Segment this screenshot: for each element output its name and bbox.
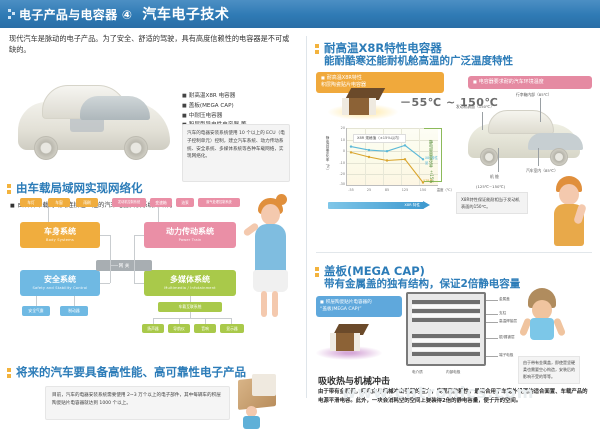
left-column: 现代汽车是脉动的电子产品。为了安全、舒适的驾驶，具有高度信赖性的电容器是不可或缺… xyxy=(0,28,305,406)
network-box-multimedia: 多媒体系统 Multimedia / Infotainment xyxy=(144,270,236,296)
chart-xtick: -55 xyxy=(348,188,354,192)
bullet-item: 中耐压电容器 xyxy=(182,112,292,122)
xsec-label-solder: 高温焊接层 xyxy=(499,319,517,324)
x8r-heading: 耐高温X8R特性电容器 能耐酷寒还能耐机舱高温的广泛温度特性 xyxy=(308,36,600,71)
column-divider xyxy=(306,36,307,398)
chip-power-2: 变速箱 xyxy=(150,198,172,207)
chip-body-1: 车灯 xyxy=(20,198,42,207)
xsec-label-terminal: 端子电极 xyxy=(499,353,513,358)
carton-lid-illustration xyxy=(252,374,276,396)
intro-block: 耐高温X8R 电容器 盖板(MEGA CAP) 中耐压电容器 积层型导电性电容器… xyxy=(0,62,305,174)
xsec-label-dielectric: 电介质 xyxy=(412,370,423,375)
arrow-label: X8R 特性 xyxy=(404,202,420,209)
intro-callout: 汽车的电器安装系统使用 10 个以上的 ECU（电子控制单元）控制，建立汽车系统… xyxy=(182,124,290,182)
mega-cross-section-diagram: 金属盖 支柱 高温焊接层 银/镍镀层 端子电极 电介质 内部电极 xyxy=(402,292,490,370)
header-series: 电子产品与电容器 ④ xyxy=(19,6,132,23)
chart-ytick: -30 xyxy=(331,182,345,186)
boy-illustration xyxy=(546,176,596,248)
bullet-icon xyxy=(7,368,11,380)
section-divider xyxy=(316,252,592,253)
chart-xtick: 150 xyxy=(420,188,426,192)
infographic-page: 电子产品与电容器 ④ 汽车电子技术 现代汽车是脉动的电子产品。为了安全、舒适的驾… xyxy=(0,0,600,406)
brace-label: 静电容量变化率 ±15% xyxy=(428,140,434,183)
chip-safety-1: 安全气囊 xyxy=(22,306,50,316)
chart-ytick: 10 xyxy=(331,138,345,142)
mega-cap-illustration xyxy=(330,324,372,354)
bullet-icon xyxy=(7,184,11,196)
x8r-tag-right: 电容器要求耐的汽车环境温度 xyxy=(468,76,592,89)
bullet-icon xyxy=(315,267,319,279)
mega-heading-main: 盖板(MEGA CAP) xyxy=(324,264,520,278)
chip-media-3: 音响 xyxy=(194,324,216,333)
chip-power-3: 油泵 xyxy=(176,198,194,207)
chip-power-1: 发动机控制系统 xyxy=(112,198,146,207)
page-title: 汽车电子技术 xyxy=(142,4,229,24)
media-sub-node: 车载互联系统 xyxy=(158,302,222,312)
bullet-item: 耐高温X8R 电容器 xyxy=(182,92,292,102)
presenter-woman-illustration xyxy=(245,196,301,318)
mega-heading-sub: 带有金属盖的独有结构，保证2倍静电容量 xyxy=(324,278,520,291)
chip-body-2: 车窗 xyxy=(48,198,70,207)
chip-safety-2: 制动器 xyxy=(60,306,88,316)
chart-xtick: 25 xyxy=(367,188,371,192)
future-section: 将来的汽车要具备高性能、高可靠性电子产品 目前，汽车的电器安装系统需要使用 2~… xyxy=(0,360,305,434)
intro-lead: 现代汽车是脉动的电子产品。为了安全、舒适的驾驶，具有高度信赖性的电容器是不可或缺… xyxy=(0,28,305,55)
chip-media-2: 导航仪 xyxy=(168,324,190,333)
chip-media-1: 扬声器 xyxy=(142,324,164,333)
bullet-icon xyxy=(315,44,319,56)
network-heading: 由车载局域网实现网络化 xyxy=(0,176,305,198)
network-box-safety: 安全系统 Safety and Stability Control xyxy=(20,270,100,296)
chart-ytick: -10 xyxy=(331,161,345,165)
chip-power-4: 废气处理控制系统 xyxy=(198,198,240,207)
x8r-heading-sub: 能耐酷寒还能耐机舱高温的广泛温度特性 xyxy=(324,55,513,68)
network-section: 由车载局域网实现网络化 由各种车载局域网连接在一起的汽车电器安装系统的结构 车灯… xyxy=(0,176,305,358)
chip-body-3: 雨刷 xyxy=(76,198,98,207)
chart-ytick: 0 xyxy=(331,149,345,153)
mega-cap-section: 盖板(MEGA CAP) 带有金属盖的独有结构，保证2倍静电容量 积层陶瓷贴片电… xyxy=(308,252,600,434)
mega-tag: 积层陶瓷贴片电容器的 “盖板(MEGA CAP)” xyxy=(316,296,402,317)
worker-illustration xyxy=(240,406,262,430)
chart-xlabel: 温度（℃） xyxy=(437,187,454,192)
car-label-engine-bay-temp: (125℃~150℃) xyxy=(476,184,505,189)
x8r-capacitor-illustration xyxy=(342,88,388,118)
x8r-section: 耐高温X8R特性电容器 能耐酷寒还能耐机舱高温的广泛温度特性 耐高温X8R特性 … xyxy=(308,36,600,248)
bullet-item: 盖板(MEGA CAP) xyxy=(182,102,292,112)
chart-ytick: 20 xyxy=(331,126,345,130)
chart-ytick: -20 xyxy=(331,172,345,176)
right-column: 耐高温X8R特性电容器 能耐酷寒还能耐机舱高温的广泛温度特性 耐高温X8R特性 … xyxy=(308,28,600,406)
chart-xtick: 85 xyxy=(385,188,389,192)
dots-icon xyxy=(8,8,15,20)
car-label-engine: 发动机表面（150℃） xyxy=(456,104,494,110)
x8r-heading-main: 耐高温X8R特性电容器 xyxy=(324,41,513,55)
chart-xtick: 125 xyxy=(402,188,408,192)
network-box-powertrain: 动力传动系统 Power Train xyxy=(144,222,236,248)
car-label-cabin: 汽车室内（85℃） xyxy=(526,168,558,174)
girl-illustration xyxy=(520,288,566,352)
chip-media-4: 显示器 xyxy=(220,324,244,333)
x8r-range-arrow: X8R 特性 xyxy=(328,202,424,209)
page-header: 电子产品与电容器 ④ 汽车电子技术 xyxy=(0,0,600,28)
x8r-note: X8R特性保证能耐相当于发动机表面的150℃。 xyxy=(456,192,528,214)
car-illustration xyxy=(12,80,177,168)
mega-side-note: 由于带有金属盖，即使是坚硬柔也需要空心构造，安装后的影响不受的等等。 xyxy=(518,356,580,384)
watermark: www.cntronics.com xyxy=(308,383,568,402)
future-note: 目前，汽车的电器安装系统需要使用 2~3 万个以上的电子部件，其中每辆车的积层陶… xyxy=(45,386,230,420)
gateway-node: 网 关 xyxy=(96,260,152,271)
xsec-label-metal-cap: 金属盖 xyxy=(499,297,510,302)
x8r-tag-right-wrap: 电容器要求耐的汽车环境温度 xyxy=(468,76,592,89)
xsec-label-inner-electrode: 内部电极 xyxy=(446,370,460,375)
xsec-label-pillar: 支柱 xyxy=(499,311,506,316)
car-label-trunk: 行李箱内部（85℃） xyxy=(516,92,552,98)
network-box-body: 车身系统 Body Systems xyxy=(20,222,100,248)
xsec-label-plating: 银/镍镀层 xyxy=(499,335,515,340)
car-label-engine-bay: 机 舱 xyxy=(490,174,499,180)
network-diagram: 车灯 车窗 雨刷 发动机控制系统 变速箱 油泵 废气处理控制系统 车身系统 Bo… xyxy=(8,198,248,340)
